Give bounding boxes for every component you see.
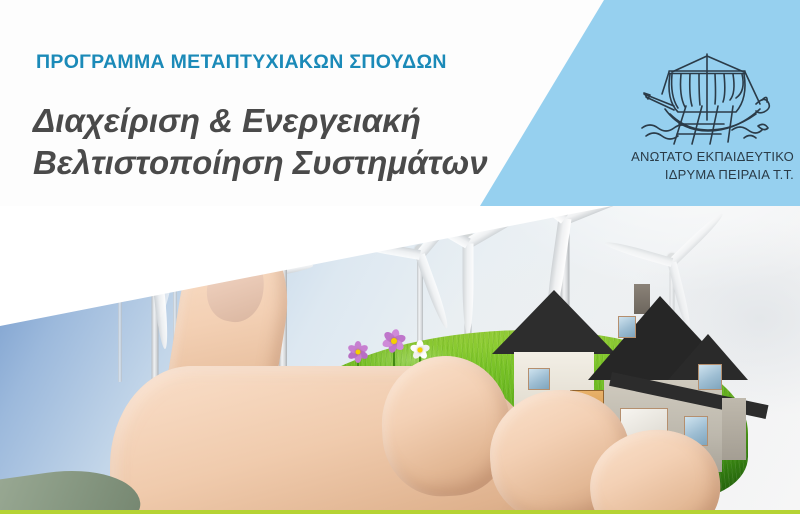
bottom-accent-rule-fade [670,510,800,514]
program-headline: ΠΡΟΓΡΑΜΜΑ ΜΕΤΑΠΤΥΧΙΑΚΩΝ ΣΠΟΥΔΩΝ [36,51,447,74]
house-wall-right [722,398,746,460]
program-title-line-2: Βελτιστοποίηση Συστημάτων [33,142,488,184]
poster-root: ΠΡΟΓΡΑΜΜΑ ΜΕΤΑΠΤΥΧΙΑΚΩΝ ΣΠΟΥΔΩΝ Διαχείρι… [0,0,800,514]
institution-name-line-2: ΙΔΡΥΜΑ ΠΕΙΡΑΙΑ Τ.Τ. [614,166,794,184]
program-title-line-1: Διαχείριση & Ενεργειακή [33,100,488,142]
ancient-greek-ship-icon [632,48,782,148]
header-band: ΠΡΟΓΡΑΜΜΑ ΜΕΤΑΠΤΥΧΙΑΚΩΝ ΣΠΟΥΔΩΝ Διαχείρι… [0,0,800,206]
program-title: Διαχείριση & Ενεργειακή Βελτιστοποίηση Σ… [33,100,488,184]
institution-logo: ΑΝΩΤΑΤΟ ΕΚΠΑΙΔΕΥΤΙΚΟ ΙΔΡΥΜΑ ΠΕΙΡΑΙΑ Τ.Τ. [614,48,794,198]
institution-name: ΑΝΩΤΑΤΟ ΕΚΠΑΙΔΕΥΤΙΚΟ ΙΔΡΥΜΑ ΠΕΙΡΑΙΑ Τ.Τ. [614,148,794,185]
institution-name-line-1: ΑΝΩΤΑΤΟ ΕΚΠΑΙΔΕΥΤΙΚΟ [614,148,794,166]
